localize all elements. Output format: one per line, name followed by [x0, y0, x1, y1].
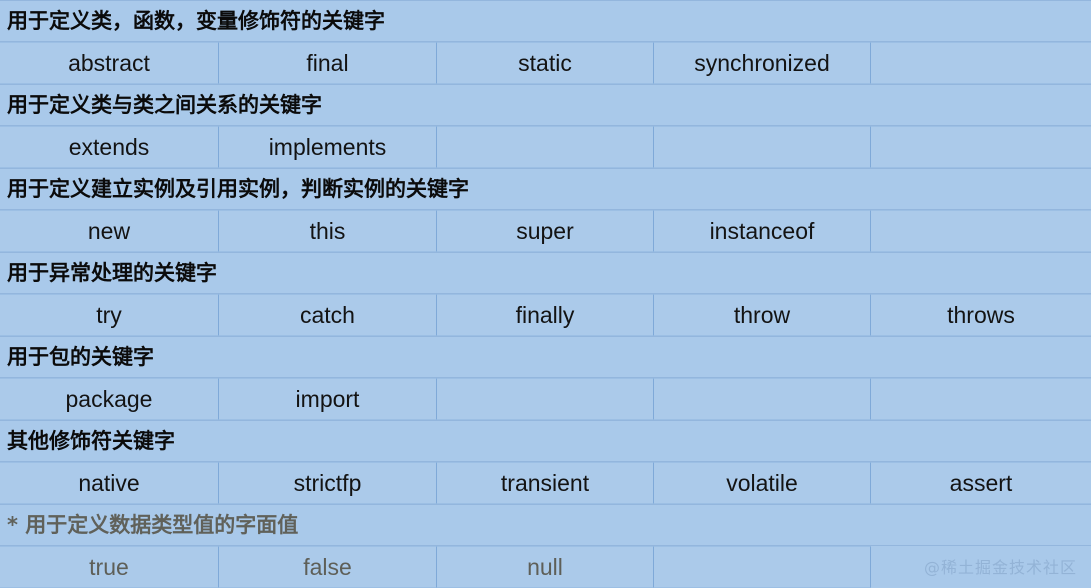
- keyword-cell: catch: [219, 294, 437, 336]
- section-title: 其他修饰符关键字: [0, 428, 175, 454]
- keyword-cell: true: [0, 546, 219, 588]
- section-title: 用于异常处理的关键字: [0, 260, 217, 286]
- keyword-cell-empty: [437, 378, 654, 420]
- keyword-cell-empty: [871, 42, 1091, 84]
- keyword-row: trycatchfinallythrowthrows: [0, 294, 1091, 336]
- section-header-row: 其他修饰符关键字: [0, 420, 1091, 462]
- keyword-table: 用于定义类，函数，变量修饰符的关键字abstractfinalstaticsyn…: [0, 0, 1091, 587]
- keyword-row: nativestrictfptransientvolatileassert: [0, 462, 1091, 504]
- keyword-cell-empty: [654, 378, 871, 420]
- keyword-cell: import: [219, 378, 437, 420]
- section-header-row: 用于包的关键字: [0, 336, 1091, 378]
- keyword-cell: implements: [219, 126, 437, 168]
- section-title: 用于包的关键字: [0, 344, 154, 370]
- keyword-cell-empty: [871, 546, 1091, 588]
- section-title: 用于定义建立实例及引用实例，判断实例的关键字: [0, 176, 469, 202]
- keyword-row: truefalsenull: [0, 546, 1091, 588]
- keyword-cell: new: [0, 210, 219, 252]
- keyword-cell-empty: [871, 126, 1091, 168]
- section-header-row: * 用于定义数据类型值的字面值: [0, 504, 1091, 546]
- keyword-cell-empty: [871, 210, 1091, 252]
- section-title: * 用于定义数据类型值的字面值: [0, 512, 298, 538]
- keyword-cell: super: [437, 210, 654, 252]
- keyword-cell: try: [0, 294, 219, 336]
- keyword-cell: final: [219, 42, 437, 84]
- section-title: 用于定义类与类之间关系的关键字: [0, 92, 322, 118]
- keyword-cell: synchronized: [654, 42, 871, 84]
- keyword-cell: this: [219, 210, 437, 252]
- keyword-cell-empty: [871, 378, 1091, 420]
- keyword-row: packageimport: [0, 378, 1091, 420]
- keyword-cell-empty: [654, 546, 871, 588]
- keyword-cell: abstract: [0, 42, 219, 84]
- keyword-cell: finally: [437, 294, 654, 336]
- keyword-cell: false: [219, 546, 437, 588]
- keyword-cell: package: [0, 378, 219, 420]
- section-title: 用于定义类，函数，变量修饰符的关键字: [0, 8, 385, 34]
- keyword-row: newthissuperinstanceof: [0, 210, 1091, 252]
- keyword-row: extendsimplements: [0, 126, 1091, 168]
- keyword-cell: static: [437, 42, 654, 84]
- keyword-row: abstractfinalstaticsynchronized: [0, 42, 1091, 84]
- keyword-cell: transient: [437, 462, 654, 504]
- section-header-row: 用于定义类与类之间关系的关键字: [0, 84, 1091, 126]
- keyword-cell-empty: [654, 126, 871, 168]
- keyword-cell: volatile: [654, 462, 871, 504]
- keyword-cell: throw: [654, 294, 871, 336]
- keyword-cell: strictfp: [219, 462, 437, 504]
- section-header-row: 用于定义建立实例及引用实例，判断实例的关键字: [0, 168, 1091, 210]
- keyword-cell: null: [437, 546, 654, 588]
- section-header-row: 用于异常处理的关键字: [0, 252, 1091, 294]
- keyword-cell: extends: [0, 126, 219, 168]
- keyword-cell: native: [0, 462, 219, 504]
- keyword-cell: instanceof: [654, 210, 871, 252]
- keyword-cell-empty: [437, 126, 654, 168]
- keyword-cell: throws: [871, 294, 1091, 336]
- section-header-row: 用于定义类，函数，变量修饰符的关键字: [0, 0, 1091, 42]
- keyword-cell: assert: [871, 462, 1091, 504]
